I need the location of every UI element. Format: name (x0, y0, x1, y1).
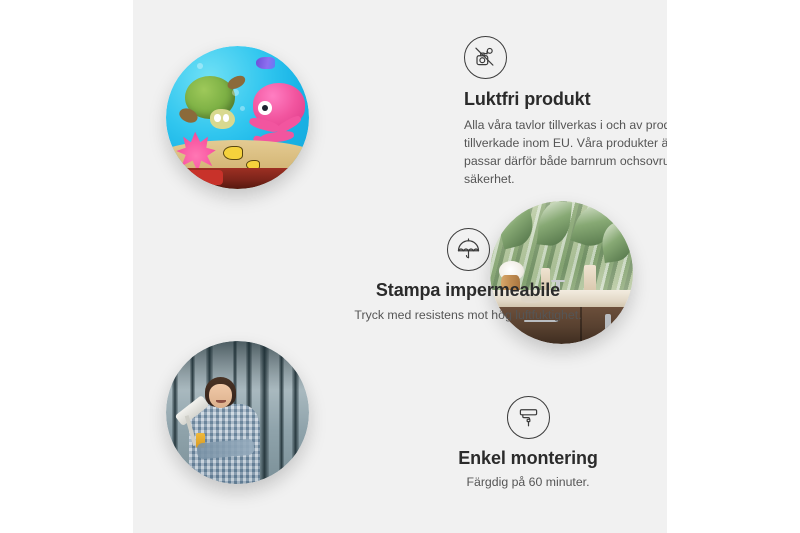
feature-title: Stampa impermeabile (338, 279, 598, 302)
feature-description: Tryck med resistens mot hög luftfuktighe… (338, 306, 598, 324)
foreground-shipwreck-strip (166, 168, 309, 189)
feature-description: Färgdig på 60 minuter. (433, 473, 623, 491)
painter-face (209, 384, 232, 408)
photo-clip (166, 46, 309, 189)
feature-title: Luktfri produkt (464, 88, 667, 111)
photo-clip (166, 341, 309, 484)
page-root: Luktfri produkt Alla våra tavlor tillver… (0, 0, 800, 533)
underwater-kids-scene-photo[interactable] (166, 46, 309, 189)
feature-mounting: Enkel montering Färgdig på 60 minuter. (433, 396, 623, 491)
bubble-icon (232, 89, 239, 96)
forest-canopy-shade (166, 341, 309, 390)
feature-waterproof: Stampa impermeabile Tryck med resistens … (338, 228, 598, 324)
feature-banner-panel: Luktfri produkt Alla våra tavlor tillver… (133, 0, 667, 533)
feature-odourless: Luktfri produkt Alla våra tavlor tillver… (464, 36, 667, 188)
octopus-eye (258, 101, 271, 115)
painter-in-forest-photo[interactable] (166, 341, 309, 484)
turtle-head (210, 109, 234, 129)
feature-description: Alla våra tavlor tillverkas i och av pro… (464, 116, 667, 188)
door-handle (605, 314, 611, 331)
feature-icon-wrapper (433, 396, 623, 439)
blue-fish-icon (256, 57, 275, 68)
feature-title: Enkel montering (433, 447, 623, 470)
yellow-fish-icon (223, 146, 243, 160)
paint-roller-icon (507, 396, 550, 439)
umbrella-icon (447, 228, 490, 271)
no-fragrance-icon (464, 36, 507, 79)
feature-icon-wrapper (338, 228, 598, 271)
